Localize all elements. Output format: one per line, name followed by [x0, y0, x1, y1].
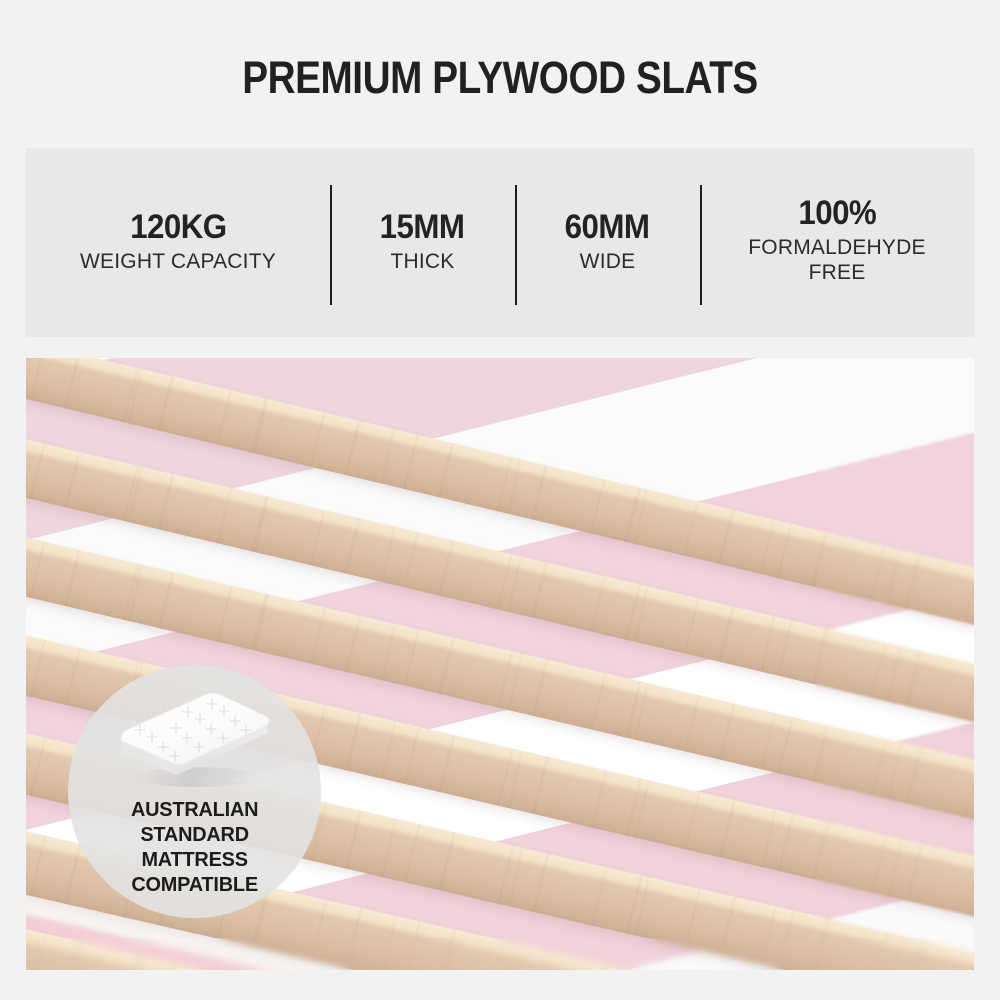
spec-label: FORMALDEHYDE FREE	[748, 235, 925, 285]
spec-label: THICK	[391, 249, 455, 274]
spec-value: 60MM	[565, 208, 650, 246]
page-title: PREMIUM PLYWOOD SLATS	[70, 52, 930, 104]
spec-value: 15MM	[380, 208, 465, 246]
spec-label: WEIGHT CAPACITY	[80, 249, 276, 274]
spec-item-width: 60MM WIDE	[515, 148, 700, 337]
spec-bar: 120KG WEIGHT CAPACITY 15MM THICK 60MM WI…	[26, 148, 974, 337]
spec-value: 100%	[798, 194, 876, 232]
spec-item-formaldehyde-free: 100% FORMALDEHYDE FREE	[700, 148, 974, 337]
spec-label: WIDE	[580, 249, 636, 274]
spec-value: 120KG	[130, 208, 226, 246]
mattress-compatibility-badge: AUSTRALIAN STANDARD MATTRESS COMPATIBLE	[68, 665, 321, 918]
marketing-product-card: PREMIUM PLYWOOD SLATS 120KG WEIGHT CAPAC…	[0, 0, 1000, 1000]
badge-text: AUSTRALIAN STANDARD MATTRESS COMPATIBLE	[131, 797, 258, 897]
mattress-icon	[115, 685, 275, 789]
spec-item-weight-capacity: 120KG WEIGHT CAPACITY	[26, 148, 330, 337]
spec-item-thickness: 15MM THICK	[330, 148, 515, 337]
